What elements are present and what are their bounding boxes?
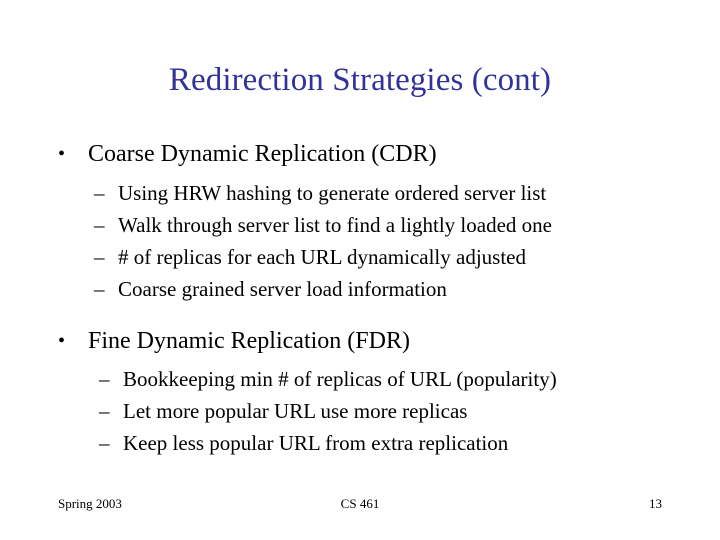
list-item: – Walk through server list to find a lig… — [0, 209, 720, 241]
dash-marker-icon: – — [99, 363, 110, 395]
list-item: – Let more popular URL use more replicas — [0, 395, 720, 427]
list-item-text: Let more popular URL use more replicas — [123, 399, 467, 423]
dash-marker-icon: – — [94, 273, 105, 305]
list-item-text: Walk through server list to find a light… — [118, 213, 552, 237]
dash-marker-icon: – — [94, 241, 105, 273]
bullet-cdr-heading-text: Coarse Dynamic Replication (CDR) — [88, 141, 437, 167]
list-item-text: # of replicas for each URL dynamically a… — [118, 245, 526, 269]
slide-body: • Coarse Dynamic Replication (CDR) – Usi… — [0, 138, 720, 459]
list-item-text: Using HRW hashing to generate ordered se… — [118, 181, 546, 205]
bullet-group-fdr: – Bookkeeping min # of replicas of URL (… — [0, 363, 720, 459]
list-item: – Using HRW hashing to generate ordered … — [0, 177, 720, 209]
bullet-fdr-heading: • Fine Dynamic Replication (FDR) — [0, 325, 720, 357]
presentation-slide: Redirection Strategies (cont) • Coarse D… — [0, 0, 720, 540]
bullet-cdr-heading: • Coarse Dynamic Replication (CDR) — [0, 138, 720, 170]
footer-page-number: 13 — [649, 492, 662, 516]
dash-marker-icon: – — [94, 209, 105, 241]
footer-course: CS 461 — [0, 492, 720, 516]
list-item: – # of replicas for each URL dynamically… — [0, 241, 720, 273]
slide-title: Redirection Strategies (cont) — [0, 60, 720, 100]
list-item-text: Coarse grained server load information — [118, 277, 447, 301]
bullet-marker-icon: • — [58, 325, 65, 357]
list-item: – Coarse grained server load information — [0, 273, 720, 305]
list-item: – Keep less popular URL from extra repli… — [0, 427, 720, 459]
bullet-marker-icon: • — [58, 138, 65, 170]
list-item-text: Keep less popular URL from extra replica… — [123, 431, 508, 455]
dash-marker-icon: – — [99, 427, 110, 459]
bullet-group-cdr: – Using HRW hashing to generate ordered … — [0, 177, 720, 305]
slide-footer: Spring 2003 CS 461 13 — [0, 492, 720, 516]
list-item: – Bookkeeping min # of replicas of URL (… — [0, 363, 720, 395]
dash-marker-icon: – — [94, 177, 105, 209]
list-item-text: Bookkeeping min # of replicas of URL (po… — [123, 367, 557, 391]
bullet-fdr-heading-text: Fine Dynamic Replication (FDR) — [88, 328, 410, 354]
dash-marker-icon: – — [99, 395, 110, 427]
